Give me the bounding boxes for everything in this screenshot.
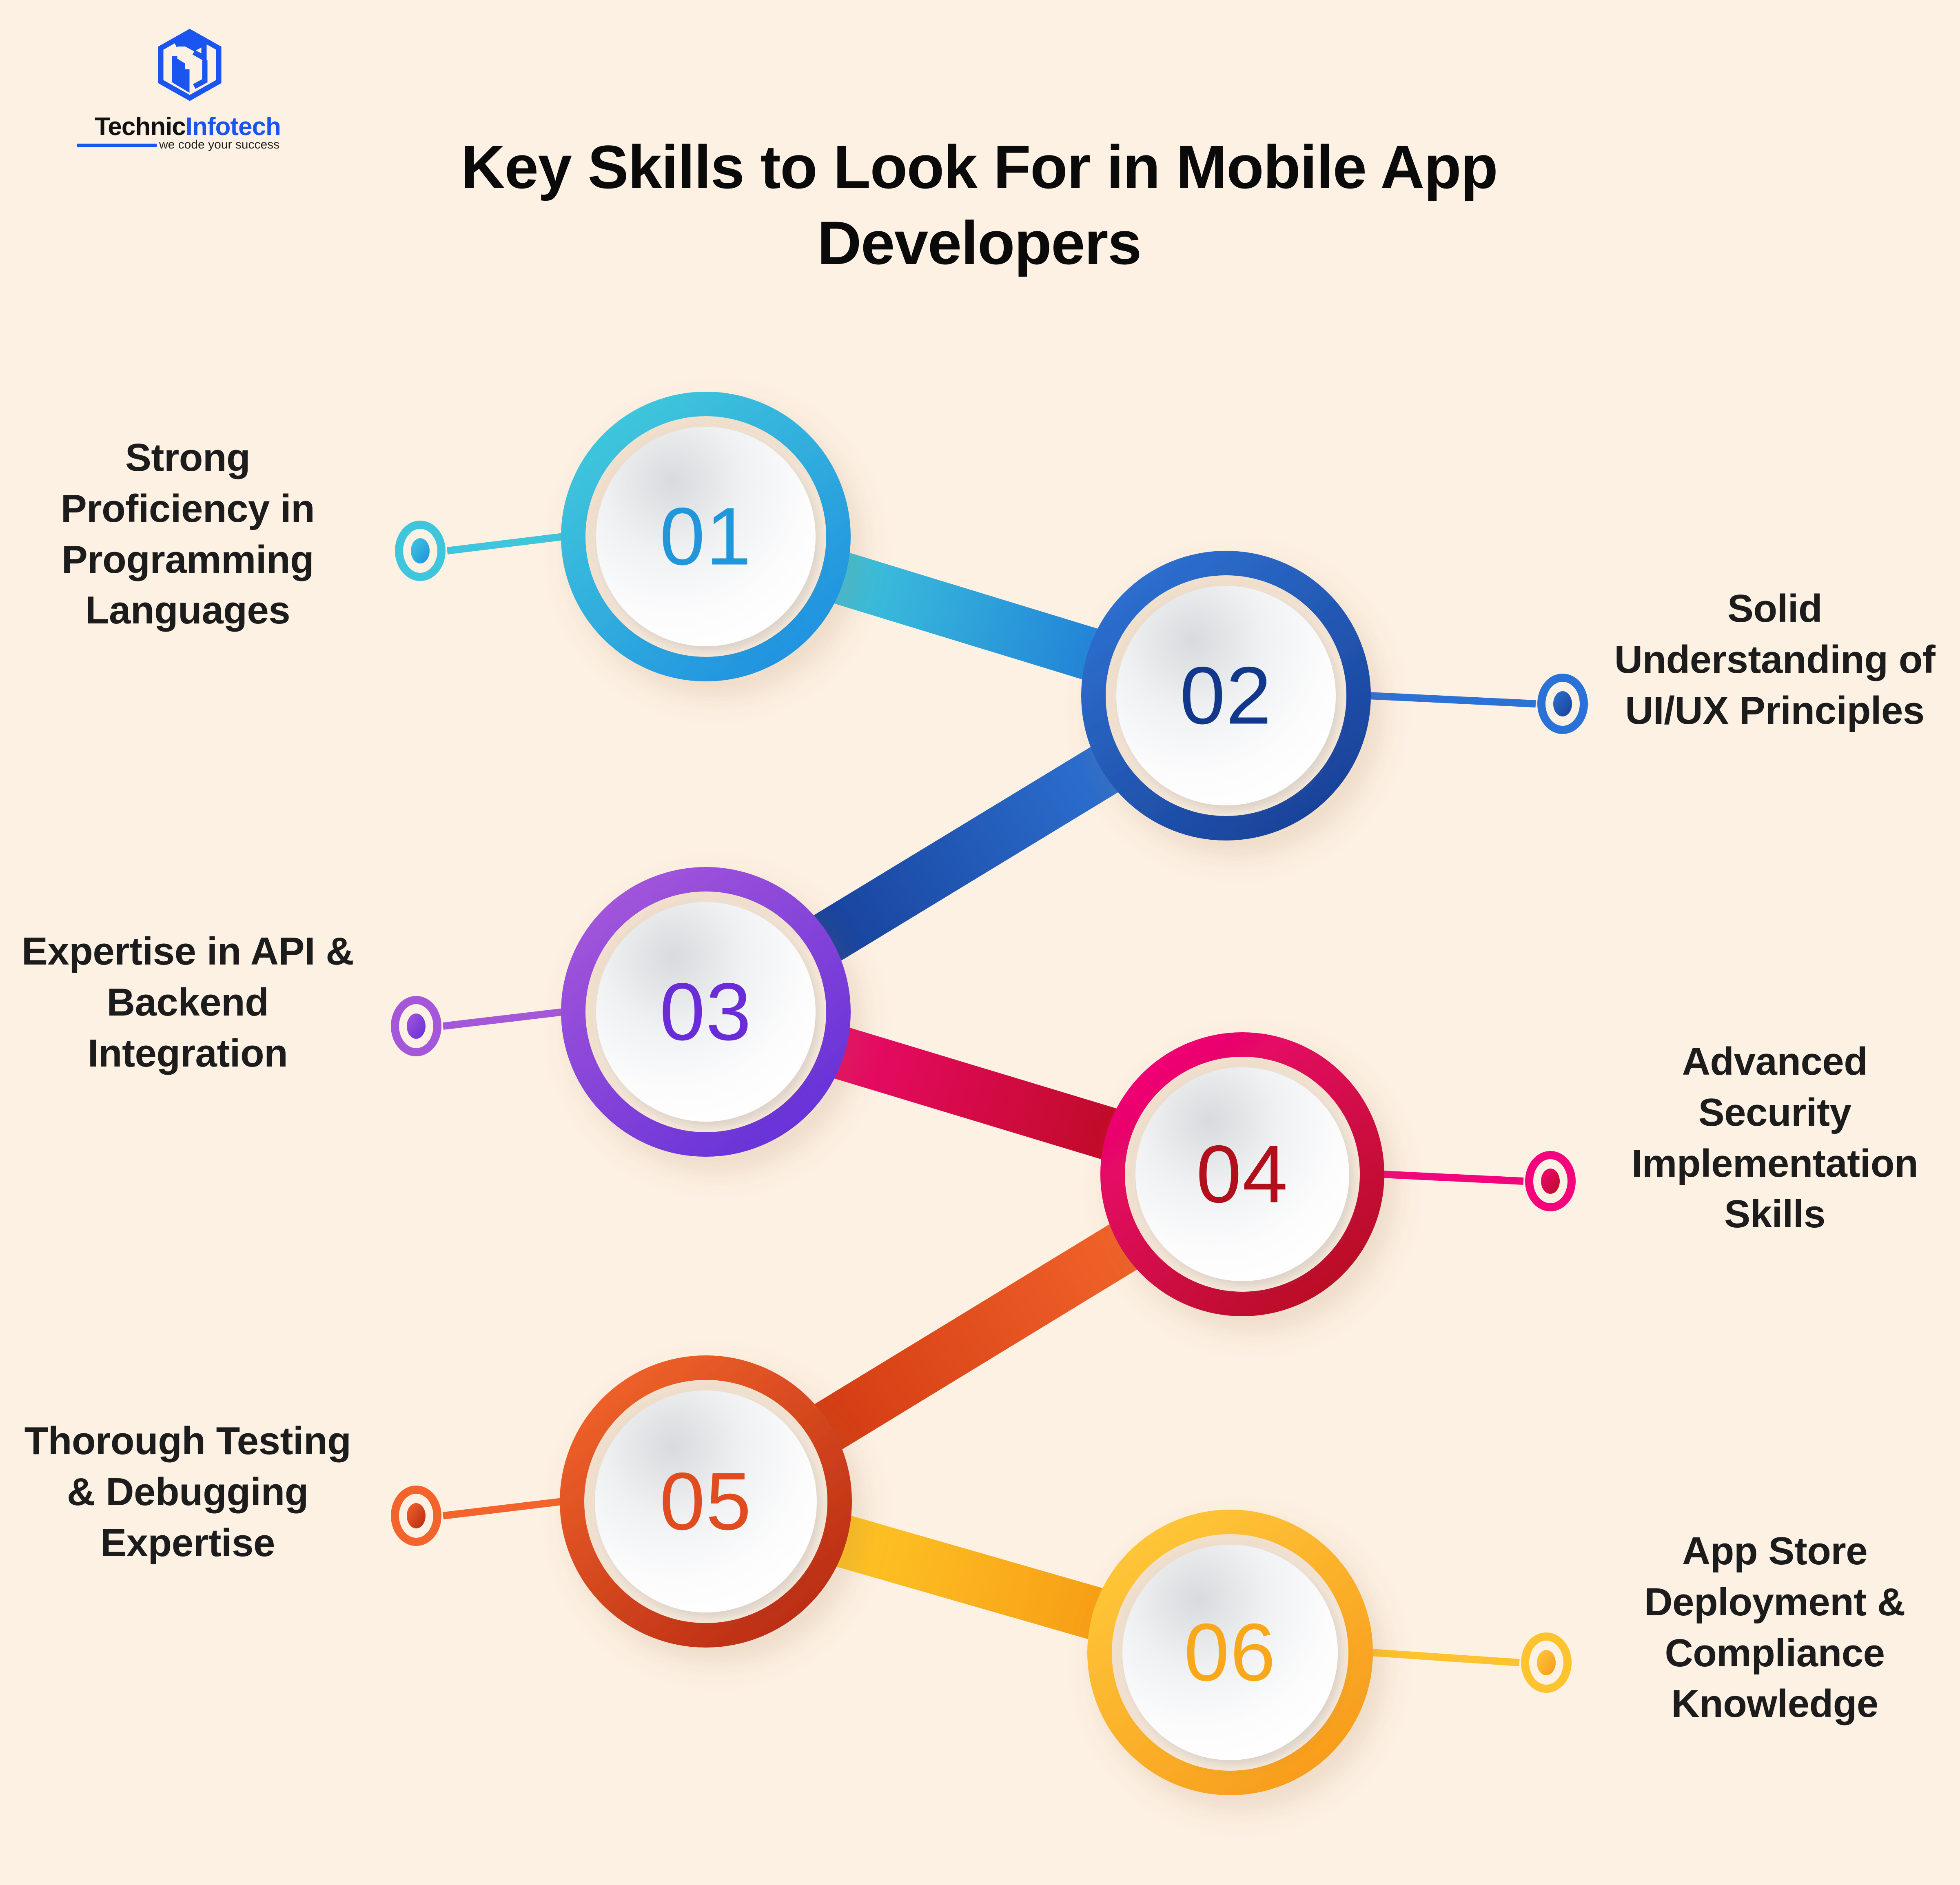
step-node-06[interactable]: 06 bbox=[1100, 1522, 1361, 1783]
connector-03-to-04 bbox=[816, 1022, 1135, 1165]
connector-05-to-06 bbox=[818, 1510, 1121, 1645]
step-number-03: 03 bbox=[660, 967, 752, 1058]
step-label-01: Strong Proficiency in Programming Langua… bbox=[16, 432, 359, 636]
step-number-04: 04 bbox=[1196, 1129, 1288, 1220]
marker-dot-04 bbox=[1541, 1169, 1560, 1194]
step-label-04: Advanced Security Implementation Skills bbox=[1603, 1036, 1946, 1240]
step-label-03: Expertise in API & Backend Integration bbox=[16, 926, 359, 1079]
marker-dot-06 bbox=[1537, 1650, 1556, 1675]
step-number-02: 02 bbox=[1180, 650, 1272, 741]
marker-dot-01 bbox=[411, 538, 430, 563]
step-label-05: Thorough Testing & Debugging Expertise bbox=[16, 1416, 359, 1568]
step-node-03[interactable]: 03 bbox=[573, 879, 838, 1144]
step-number-05: 05 bbox=[660, 1456, 752, 1547]
step-number-01: 01 bbox=[660, 491, 752, 582]
connector-01-to-02 bbox=[816, 547, 1116, 685]
step-label-02: Solid Understanding of UI/UX Principles bbox=[1603, 583, 1946, 736]
leader-line-03 bbox=[443, 1012, 563, 1026]
leader-line-01 bbox=[447, 537, 563, 551]
connector-02-to-03 bbox=[797, 737, 1135, 971]
marker-dot-02 bbox=[1553, 691, 1572, 716]
step-node-02[interactable]: 02 bbox=[1093, 563, 1359, 828]
step-node-05[interactable]: 05 bbox=[572, 1368, 840, 1635]
connector-04-to-05 bbox=[798, 1214, 1154, 1460]
marker-dot-03 bbox=[407, 1013, 426, 1039]
step-label-06: App Store Deployment & Compliance Knowle… bbox=[1603, 1526, 1946, 1730]
leader-line-02 bbox=[1368, 696, 1536, 704]
leader-line-04 bbox=[1382, 1174, 1523, 1181]
step-number-06: 06 bbox=[1184, 1607, 1276, 1698]
marker-dot-05 bbox=[407, 1503, 426, 1528]
step-node-01[interactable]: 01 bbox=[573, 404, 838, 669]
leader-line-05 bbox=[443, 1501, 562, 1516]
infographic-canvas: TechnicInfotech we code your success Key… bbox=[0, 0, 1960, 1885]
step-node-04[interactable]: 04 bbox=[1113, 1045, 1372, 1304]
leader-line-06 bbox=[1370, 1652, 1519, 1663]
